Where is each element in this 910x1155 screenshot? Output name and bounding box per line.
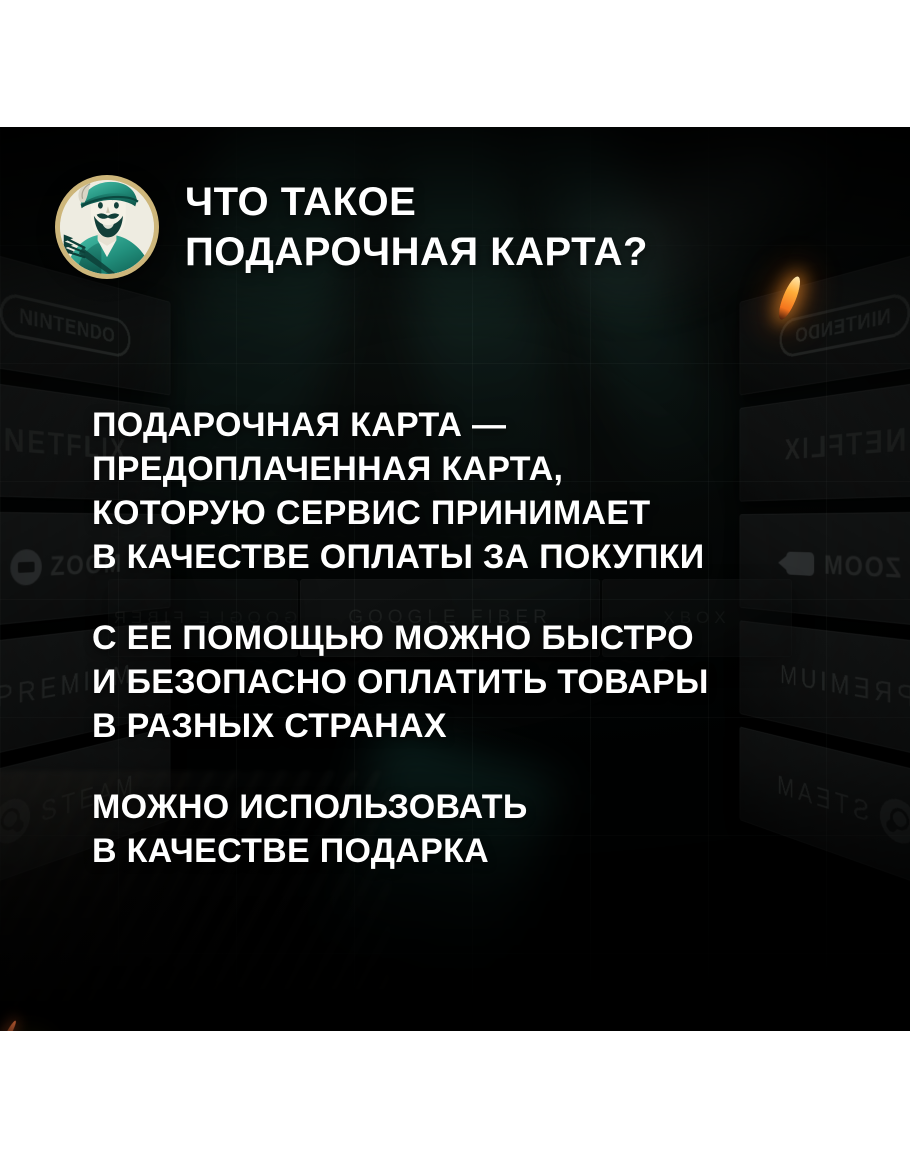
paragraph-benefits: С ЕЕ ПОМОЩЬЮ МОЖНО БЫСТРО И БЕЗОПАСНО ОП… — [92, 616, 882, 748]
title-line-1: ЧТО ТАКОЕ — [185, 177, 648, 227]
paragraph-line: КОТОРУЮ СЕРВИС ПРИНИМАЕТ — [92, 491, 882, 535]
title-line-2: ПОДАРОЧНАЯ КАРТА? — [185, 227, 648, 277]
paragraph-line: В КАЧЕСТВЕ ОПЛАТЫ ЗА ПОКУПКИ — [92, 535, 882, 579]
paragraph-line: ПРЕДОПЛАЧЕННАЯ КАРТА, — [92, 447, 882, 491]
paragraph-line: И БЕЗОПАСНО ОПЛАТИТЬ ТОВАРЫ — [92, 660, 882, 704]
paragraph-line: ПОДАРОЧНАЯ КАРТА — — [92, 403, 882, 447]
promo-poster: Nintendo NETFLIX zoom Premium STEAM Nint… — [0, 127, 910, 1031]
robin-hood-mascot-icon — [60, 180, 154, 274]
poster-title: ЧТО ТАКОЕ ПОДАРОЧНАЯ КАРТА? — [185, 177, 648, 277]
poster-header: ЧТО ТАКОЕ ПОДАРОЧНАЯ КАРТА? — [55, 175, 648, 279]
paragraph-gift-use: МОЖНО ИСПОЛЬЗОВАТЬ В КАЧЕСТВЕ ПОДАРКА — [92, 785, 882, 873]
brand-logo-badge — [55, 175, 159, 279]
poster-content: ЧТО ТАКОЕ ПОДАРОЧНАЯ КАРТА? ПОДАРОЧНАЯ К… — [0, 127, 910, 1031]
paragraph-line: В РАЗНЫХ СТРАНАХ — [92, 704, 882, 748]
page-canvas: Nintendo NETFLIX zoom Premium STEAM Nint… — [0, 0, 910, 1155]
poster-body: ПОДАРОЧНАЯ КАРТА — ПРЕДОПЛАЧЕННАЯ КАРТА,… — [92, 403, 882, 873]
paragraph-line: С ЕЕ ПОМОЩЬЮ МОЖНО БЫСТРО — [92, 616, 882, 660]
orange-light-streak — [775, 274, 804, 322]
paragraph-line: МОЖНО ИСПОЛЬЗОВАТЬ — [92, 785, 882, 829]
paragraph-definition: ПОДАРОЧНАЯ КАРТА — ПРЕДОПЛАЧЕННАЯ КАРТА,… — [92, 403, 882, 579]
paragraph-line: В КАЧЕСТВЕ ПОДАРКА — [92, 829, 882, 873]
